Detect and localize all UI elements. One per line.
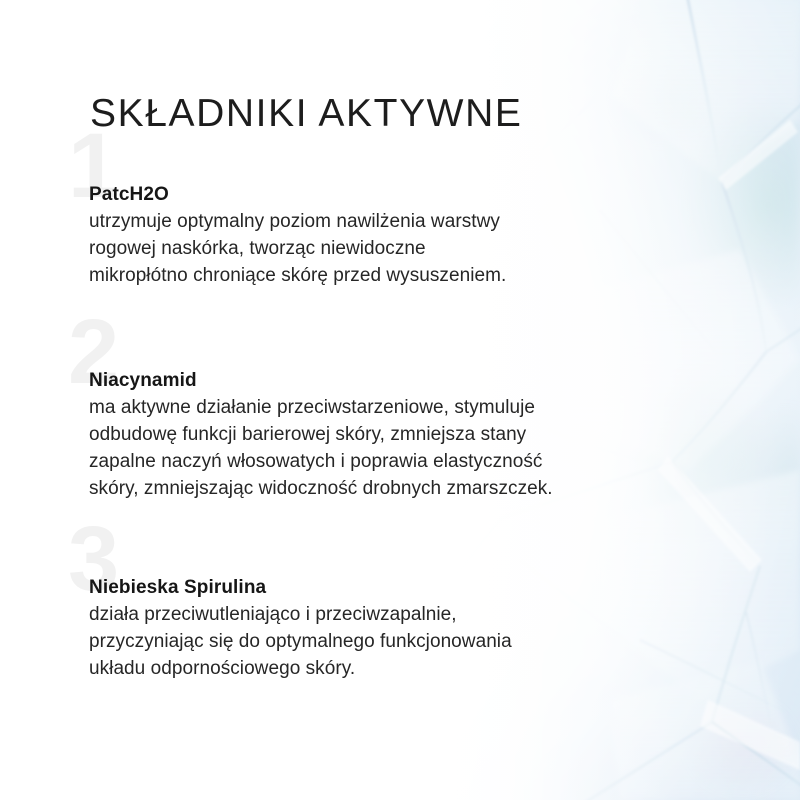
ingredient-description-line: utrzymuje optymalny poziom nawilżenia wa… [89, 208, 506, 235]
ingredient-description-3: działa przeciwutleniająco i przeciwzapal… [89, 601, 512, 682]
ingredient-description-line: układu odpornościowego skóry. [89, 655, 512, 682]
ingredient-description-line: mikropłótno chroniące skórę przed wysusz… [89, 262, 506, 289]
ingredient-item-2: 2 Niacynamid ma aktywne działanie przeci… [89, 368, 553, 502]
ingredient-description-line: ma aktywne działanie przeciwstarzeniowe,… [89, 394, 553, 421]
page-title: SKŁADNIKI AKTYWNE [90, 92, 522, 137]
ingredient-description-2: ma aktywne działanie przeciwstarzeniowe,… [89, 394, 553, 502]
ingredient-item-1: 1 PatcH2O utrzymuje optymalny poziom naw… [89, 182, 506, 289]
ingredient-name-2: Niacynamid [89, 368, 553, 393]
ingredient-description-line: odbudowę funkcji barierowej skóry, zmnie… [89, 421, 553, 448]
poster: SKŁADNIKI AKTYWNE 1 PatcH2O utrzymuje op… [0, 0, 800, 800]
ingredient-name-3: Niebieska Spirulina [89, 575, 512, 600]
ingredient-description-line: rogowej naskórka, tworząc niewidoczne [89, 235, 506, 262]
ingredient-item-3: 3 Niebieska Spirulina działa przeciwutle… [89, 575, 512, 682]
ingredient-description-1: utrzymuje optymalny poziom nawilżenia wa… [89, 208, 506, 289]
ingredient-name-1: PatcH2O [89, 182, 506, 207]
ingredient-description-line: skóry, zmniejszając widoczność drobnych … [89, 475, 553, 502]
ingredient-description-line: działa przeciwutleniająco i przeciwzapal… [89, 601, 512, 628]
ingredient-description-line: zapalne naczyń włosowatych i poprawia el… [89, 448, 553, 475]
content-layer: SKŁADNIKI AKTYWNE 1 PatcH2O utrzymuje op… [0, 0, 800, 800]
ingredient-description-line: przyczyniając się do optymalnego funkcjo… [89, 628, 512, 655]
